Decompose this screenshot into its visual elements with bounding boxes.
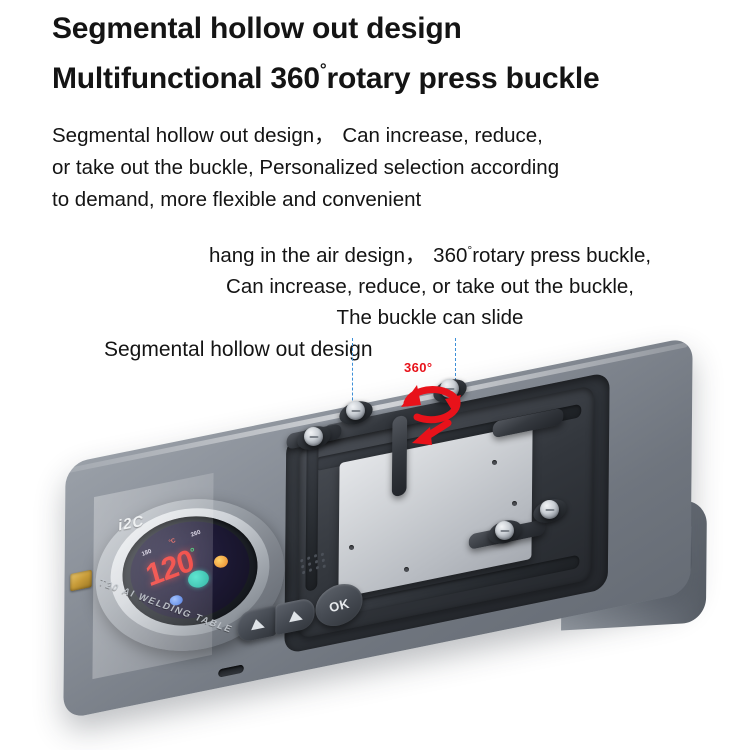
description-paragraph: Segmental hollow out design， Can increas… — [52, 120, 712, 216]
device-illustration: 180 °C 260 120° i2C OK T20 AI WELDING TA… — [0, 355, 750, 750]
description-line-1b: Can increase, reduce, — [337, 124, 543, 147]
ok-button-label: OK — [327, 595, 350, 614]
screw-left — [304, 427, 323, 446]
plate-hole — [492, 460, 497, 465]
display-label-max: 260 — [190, 530, 201, 539]
screw-lower-left — [495, 521, 514, 540]
page-title: Segmental hollow out design Multifunctio… — [52, 8, 742, 99]
title-line-1: Segmental hollow out design — [52, 8, 742, 49]
slide-direction-arrow-icon — [408, 417, 452, 451]
plate-hole — [404, 567, 409, 572]
feature-line-1c: rotary press buckle, — [472, 244, 651, 267]
degree-symbol: ° — [320, 60, 327, 79]
title-line-2-pre: Multifunctional 360 — [52, 62, 320, 95]
feature-paragraph: hang in the air design， 360°rotary press… — [150, 235, 710, 333]
description-line-1a: Segmental hollow out design — [52, 124, 314, 147]
feature-line-2: Can increase, reduce, or take out the bu… — [150, 271, 710, 302]
title-line-2: Multifunctional 360°rotary press buckle — [52, 49, 742, 99]
screw-mid — [346, 401, 365, 420]
description-line-2: or take out the buckle, Personalized sel… — [52, 152, 712, 184]
feature-line-3: The buckle can slide — [150, 302, 710, 333]
triangle-up-icon — [249, 618, 265, 631]
feature-line-1b: 360 — [427, 244, 467, 267]
fullwidth-comma: ， — [405, 244, 428, 267]
fullwidth-comma: ， — [314, 124, 337, 147]
display-label-unit: °C — [168, 538, 176, 546]
feature-line-1a: hang in the air design — [209, 244, 405, 267]
plate-hole — [512, 501, 517, 506]
title-line-2-post: rotary press buckle — [327, 62, 600, 95]
screw-lower-right — [540, 500, 559, 519]
description-line-1: Segmental hollow out design， Can increas… — [52, 120, 712, 152]
description-line-3: to demand, more flexible and convenient — [52, 184, 712, 216]
triangle-up-icon — [287, 610, 303, 623]
feature-line-1: hang in the air design， 360°rotary press… — [150, 235, 710, 271]
promo-page: Segmental hollow out design Multifunctio… — [0, 0, 750, 750]
plate-hole — [349, 545, 354, 550]
display-icon-orange[interactable] — [213, 554, 229, 569]
